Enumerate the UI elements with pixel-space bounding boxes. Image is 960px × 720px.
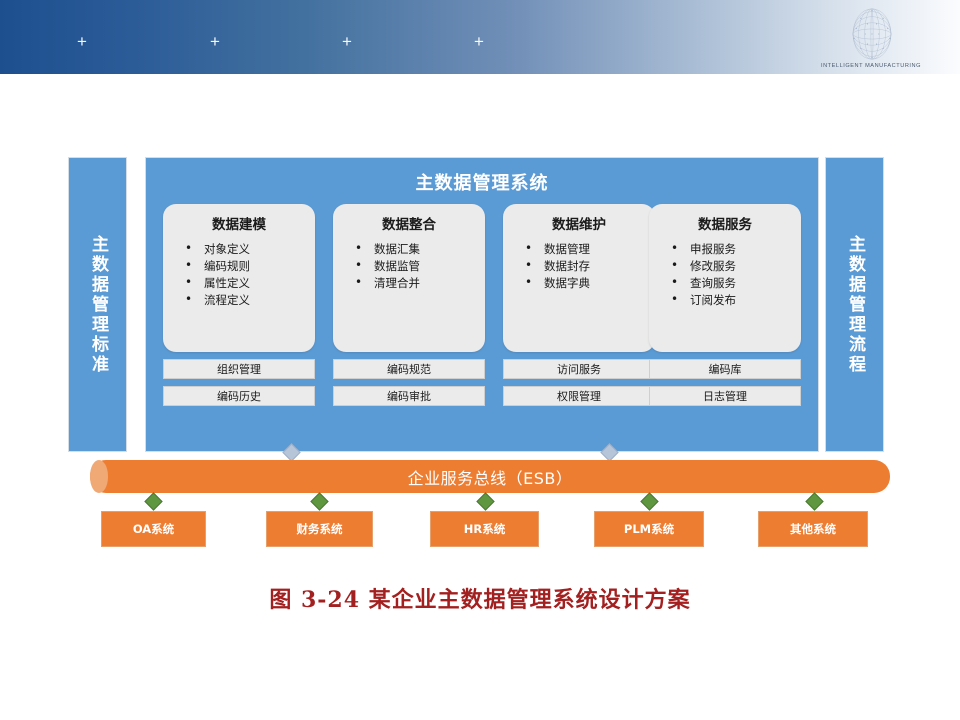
left-panel-label: 主数据管理标准 — [89, 235, 106, 375]
system-panel-title: 主数据管理系统 — [146, 169, 818, 195]
module-card-data-maintenance: 数据维护 数据管理 数据封存 数据字典 — [503, 204, 655, 352]
connector-diamond-down-1 — [144, 492, 162, 510]
system-box-hr[interactable]: HR系统 — [430, 511, 539, 547]
sub-box: 访问服务 — [503, 359, 655, 379]
esb-label: 企业服务总线（ESB） — [90, 460, 890, 493]
plus-decoration-icon-1: + — [77, 33, 87, 50]
connector-diamond-down-5 — [805, 492, 823, 510]
plus-decoration-icon-2: + — [210, 33, 220, 50]
connector-diamond-down-4 — [640, 492, 658, 510]
page-header-banner: + + + + — [0, 0, 960, 74]
connector-diamond-down-2 — [310, 492, 328, 510]
sub-box: 日志管理 — [649, 386, 801, 406]
diagram-canvas: 主数据管理标准 主数据管理流程 主数据管理系统 数据建模 对象定义 编码规则 属… — [0, 74, 960, 720]
module-list-item: 数据封存 — [525, 258, 655, 275]
module-item-list: 数据管理 数据封存 数据字典 — [503, 241, 655, 292]
system-box-finance[interactable]: 财务系统 — [266, 511, 373, 547]
module-card-data-integration: 数据整合 数据汇集 数据监管 清理合并 — [333, 204, 485, 352]
sub-box: 编码规范 — [333, 359, 485, 379]
module-title: 数据整合 — [333, 213, 485, 233]
module-list-item: 数据字典 — [525, 275, 655, 292]
sub-box: 编码库 — [649, 359, 801, 379]
brand-logo-text: INTELLIGENT MANUFACTURING — [816, 63, 926, 69]
sub-box: 权限管理 — [503, 386, 655, 406]
module-list-item: 编码规则 — [185, 258, 315, 275]
connector-diamond-down-3 — [476, 492, 494, 510]
module-column-3: 数据维护 数据管理 数据封存 数据字典 访问服务 权限管理 — [503, 204, 655, 406]
module-list-item: 数据汇集 — [355, 241, 485, 258]
module-card-data-modeling: 数据建模 对象定义 编码规则 属性定义 流程定义 — [163, 204, 315, 352]
module-list-item: 查询服务 — [671, 275, 801, 292]
sphere-globe-wireframe-icon — [844, 6, 900, 62]
module-list-item: 清理合并 — [355, 275, 485, 292]
module-list-item: 数据管理 — [525, 241, 655, 258]
module-item-list: 申报服务 修改服务 查询服务 订阅发布 — [649, 241, 801, 309]
module-list-item: 属性定义 — [185, 275, 315, 292]
module-list-item: 数据监管 — [355, 258, 485, 275]
right-panel-label: 主数据管理流程 — [846, 235, 863, 375]
module-list-item: 修改服务 — [671, 258, 801, 275]
system-box-plm[interactable]: PLM系统 — [594, 511, 704, 547]
sub-box: 编码历史 — [163, 386, 315, 406]
system-box-other[interactable]: 其他系统 — [758, 511, 868, 547]
system-box-oa[interactable]: OA系统 — [101, 511, 206, 547]
module-list-item: 申报服务 — [671, 241, 801, 258]
plus-decoration-icon-3: + — [342, 33, 352, 50]
esb-bus-bar: 企业服务总线（ESB） — [90, 460, 890, 493]
module-card-data-service: 数据服务 申报服务 修改服务 查询服务 订阅发布 — [649, 204, 801, 352]
module-column-1: 数据建模 对象定义 编码规则 属性定义 流程定义 组织管理 编码历史 — [163, 204, 315, 406]
brand-logo: INTELLIGENT MANUFACTURING — [816, 5, 926, 71]
right-vertical-panel-process: 主数据管理流程 — [825, 157, 884, 452]
module-title: 数据维护 — [503, 213, 655, 233]
sub-box: 编码审批 — [333, 386, 485, 406]
plus-decoration-icon-4: + — [474, 33, 484, 50]
module-list-item: 订阅发布 — [671, 292, 801, 309]
sub-box: 组织管理 — [163, 359, 315, 379]
master-data-system-panel: 主数据管理系统 数据建模 对象定义 编码规则 属性定义 流程定义 组织管理 编码… — [145, 157, 819, 452]
module-list-item: 对象定义 — [185, 241, 315, 258]
module-column-2: 数据整合 数据汇集 数据监管 清理合并 编码规范 编码审批 — [333, 204, 485, 406]
module-item-list: 对象定义 编码规则 属性定义 流程定义 — [163, 241, 315, 309]
figure-caption: 图 3-24 某企业主数据管理系统设计方案 — [0, 582, 960, 614]
module-item-list: 数据汇集 数据监管 清理合并 — [333, 241, 485, 292]
module-list-item: 流程定义 — [185, 292, 315, 309]
module-title: 数据建模 — [163, 213, 315, 233]
left-vertical-panel-standards: 主数据管理标准 — [68, 157, 127, 452]
module-column-4: 数据服务 申报服务 修改服务 查询服务 订阅发布 编码库 日志管理 — [649, 204, 801, 406]
module-title: 数据服务 — [649, 213, 801, 233]
